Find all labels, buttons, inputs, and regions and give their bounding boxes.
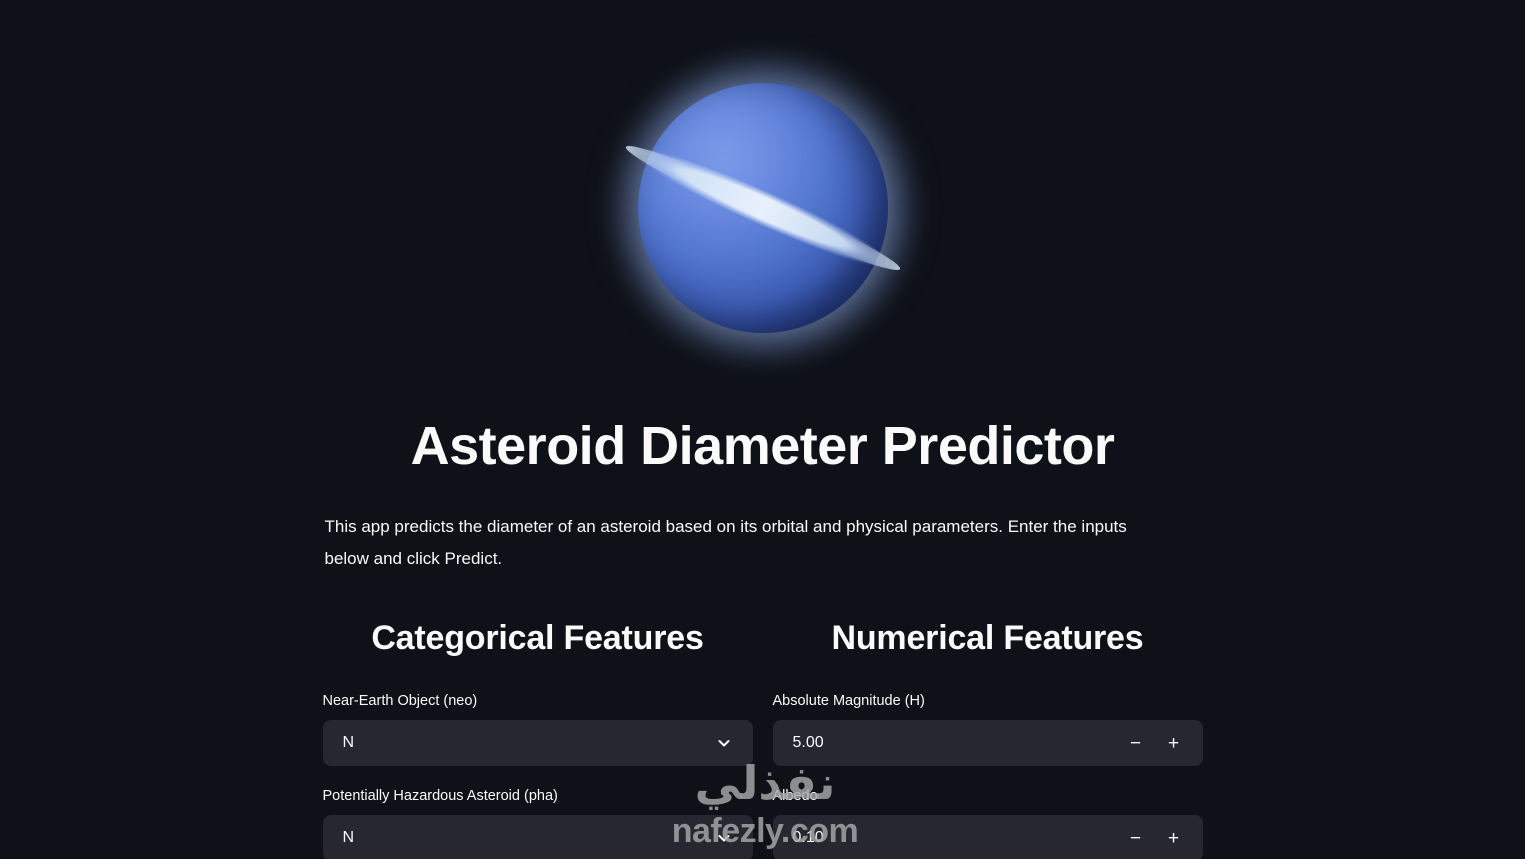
numerical-column: Numerical Features Absolute Magnitude (H… xyxy=(773,618,1203,859)
categorical-heading: Categorical Features xyxy=(323,618,753,659)
number-input-absolute-magnitude[interactable]: 5.00 − + xyxy=(773,720,1203,766)
field-albedo: Albedo 0.10 − + xyxy=(773,786,1203,859)
features-columns: Categorical Features Near-Earth Object (… xyxy=(323,618,1203,859)
decrement-button[interactable]: − xyxy=(1119,726,1153,760)
field-label-neo: Near-Earth Object (neo) xyxy=(323,691,753,711)
increment-button[interactable]: + xyxy=(1157,821,1191,855)
page-content: Asteroid Diameter Predictor This app pre… xyxy=(323,0,1203,859)
field-pha: Potentially Hazardous Asteroid (pha) N xyxy=(323,786,753,859)
app-root: Asteroid Diameter Predictor This app pre… xyxy=(0,0,1525,859)
number-input-absolute-magnitude-value[interactable]: 5.00 xyxy=(793,735,1119,751)
categorical-column: Categorical Features Near-Earth Object (… xyxy=(323,618,753,859)
select-pha[interactable]: N xyxy=(323,815,753,859)
page-description: This app predicts the diameter of an ast… xyxy=(323,511,1163,574)
field-label-absolute-magnitude: Absolute Magnitude (H) xyxy=(773,691,1203,711)
numerical-heading: Numerical Features xyxy=(773,618,1203,659)
field-label-albedo: Albedo xyxy=(773,786,1203,806)
select-neo[interactable]: N xyxy=(323,720,753,766)
increment-button[interactable]: + xyxy=(1157,726,1191,760)
field-label-pha: Potentially Hazardous Asteroid (pha) xyxy=(323,786,753,806)
chevron-down-icon[interactable] xyxy=(713,827,735,849)
chevron-down-icon[interactable] xyxy=(713,732,735,754)
select-pha-value: N xyxy=(343,830,713,846)
number-input-albedo-value[interactable]: 0.10 xyxy=(793,830,1119,846)
number-input-albedo[interactable]: 0.10 − + xyxy=(773,815,1203,859)
hero-section xyxy=(323,0,1203,415)
page-title: Asteroid Diameter Predictor xyxy=(323,415,1203,477)
select-neo-value: N xyxy=(343,735,713,751)
stepper-albedo: − + xyxy=(1119,821,1191,855)
field-absolute-magnitude: Absolute Magnitude (H) 5.00 − + xyxy=(773,691,1203,766)
field-neo: Near-Earth Object (neo) N xyxy=(323,691,753,766)
stepper-absolute-magnitude: − + xyxy=(1119,726,1191,760)
planet-icon xyxy=(593,38,933,378)
decrement-button[interactable]: − xyxy=(1119,821,1153,855)
